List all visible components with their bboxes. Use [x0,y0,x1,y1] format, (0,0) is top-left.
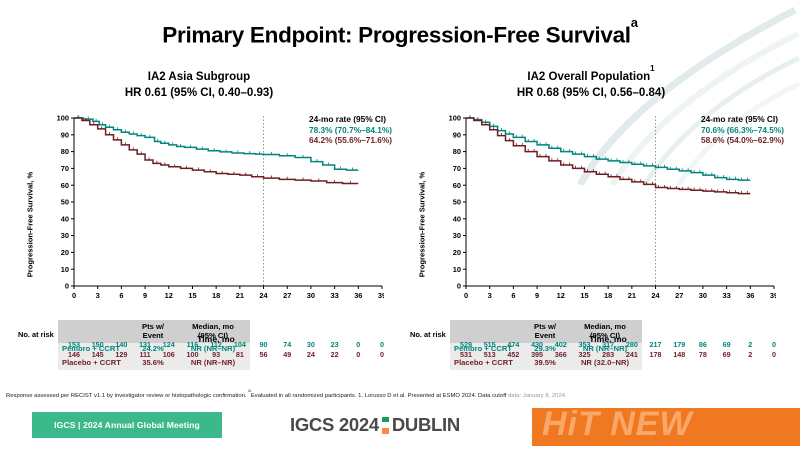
at-risk-row: 531513452395366325283241178148786920 [396,350,786,360]
at-risk-value: 0 [356,350,360,359]
panel-title-overall: IA2 Overall Population1 [396,68,786,83]
callout-pembro-overall: 70.6% (66.3%–74.5%) [701,125,784,136]
at-risk-value: 69 [723,350,731,359]
svg-text:20: 20 [453,248,461,257]
svg-text:15: 15 [580,291,588,300]
igcs-dublin-logo: IGCS 2024 DUBLIN [290,412,460,438]
at-risk-value: 112 [210,340,222,349]
ireland-flag-icon [382,417,389,434]
at-risk-value: 353 [578,340,590,349]
at-risk-value: 150 [92,340,104,349]
callout-header-overall: 24-mo rate (95% CI) [701,114,784,125]
svg-text:10: 10 [453,265,461,274]
svg-text:0: 0 [464,291,468,300]
callout-placebo-overall: 58.6% (54.0%–62.9%) [701,135,784,146]
at-risk-value: 90 [260,340,268,349]
at-risk-value: 93 [212,350,220,359]
svg-text:0: 0 [72,291,76,300]
svg-text:100: 100 [57,114,69,123]
at-risk-value: 531 [460,350,472,359]
svg-text:27: 27 [283,291,291,300]
at-risk-value: 153 [68,340,80,349]
svg-text:36: 36 [746,291,754,300]
svg-text:21: 21 [236,291,244,300]
svg-text:0: 0 [457,282,461,291]
at-risk-value: 430 [531,340,543,349]
at-risk-value: 515 [484,340,496,349]
at-risk-rows-overall: 5295154744304023533172802171798669205315… [396,340,786,360]
callout-header-asia: 24-mo rate (95% CI) [309,114,392,125]
at-risk-value: 241 [626,350,638,359]
svg-text:40: 40 [453,214,461,223]
at-risk-label: No. at risk [18,330,394,339]
at-risk-rows-asia: 1531501401311241161121049074302300146145… [4,340,394,360]
at-risk-table-overall: No. at risk 5295154744304023533172802171… [396,330,786,360]
at-risk-value: 178 [650,350,662,359]
svg-text:33: 33 [722,291,730,300]
at-risk-value: 0 [380,340,384,349]
at-risk-value: 111 [139,350,150,359]
page-title: Primary Endpoint: Progression-Free Survi… [0,22,800,49]
at-risk-value: 474 [507,340,519,349]
at-risk-value: 0 [380,350,384,359]
at-risk-value: 0 [772,350,776,359]
slide-root: Primary Endpoint: Progression-Free Survi… [0,0,800,450]
chart-panel-overall-population: IA2 Overall Population1 HR 0.68 (95% CI,… [396,68,786,378]
svg-text:6: 6 [511,291,515,300]
at-risk-value: 78 [699,350,707,359]
hazard-ratio-asia: HR 0.61 (95% CI, 0.40–0.93) [4,87,394,99]
panel-header-overall: IA2 Overall Population1 HR 0.68 (95% CI,… [396,68,786,99]
panel-title-overall-sup: 1 [650,64,654,73]
svg-text:60: 60 [61,181,69,190]
at-risk-value: 104 [234,340,246,349]
igcs-meeting-badge: IGCS | 2024 Annual Global Meeting [32,412,222,438]
at-risk-value: 100 [186,350,198,359]
svg-text:21: 21 [628,291,636,300]
at-risk-value: 106 [163,350,175,359]
svg-text:70: 70 [453,164,461,173]
panel-title-asia-text: IA2 Asia Subgroup [148,71,250,83]
y-axis-label-overall: Progression-Free Survival, % [418,135,427,315]
panel-title-overall-text: IA2 Overall Population [527,71,650,83]
at-risk-value: 116 [187,340,199,349]
footnote-main: Response assessed per RECIST v1.1 by inv… [6,393,248,399]
svg-text:10: 10 [61,265,69,274]
slide-footer: IGCS | 2024 Annual Global Meeting IGCS 2… [0,408,800,450]
at-risk-value: 148 [673,350,685,359]
at-risk-row: 529515474430402353317280217179866920 [396,340,786,350]
at-risk-value: 325 [578,350,590,359]
panel-header-asia: IA2 Asia Subgroup HR 0.61 (95% CI, 0.40–… [4,68,394,99]
at-risk-value: 49 [283,350,291,359]
svg-text:70: 70 [61,164,69,173]
at-risk-value: 0 [772,340,776,349]
svg-text:24: 24 [651,291,660,300]
svg-text:20: 20 [61,248,69,257]
svg-text:18: 18 [212,291,220,300]
svg-text:40: 40 [61,214,69,223]
at-risk-value: 280 [626,340,638,349]
watermark-banner: HiT NEW [532,408,800,446]
svg-text:12: 12 [557,291,565,300]
svg-text:39: 39 [378,291,384,300]
svg-text:39: 39 [770,291,776,300]
svg-text:30: 30 [61,231,69,240]
at-risk-value: 395 [531,350,543,359]
at-risk-value: 146 [68,350,80,359]
at-risk-value: 124 [163,340,175,349]
svg-text:90: 90 [61,130,69,139]
svg-text:15: 15 [188,291,196,300]
svg-text:27: 27 [675,291,683,300]
svg-text:0: 0 [65,282,69,291]
svg-text:30: 30 [453,231,461,240]
at-risk-value: 283 [602,350,614,359]
footnote: Response assessed per RECIST v1.1 by inv… [6,390,796,400]
svg-text:33: 33 [330,291,338,300]
at-risk-value: 81 [236,350,244,359]
chart-panel-asia-subgroup: IA2 Asia Subgroup HR 0.61 (95% CI, 0.40–… [4,68,394,378]
svg-text:90: 90 [453,130,461,139]
at-risk-value: 69 [723,340,731,349]
watermark-text: HiT NEW [542,408,693,444]
svg-text:80: 80 [453,147,461,156]
callout-asia: 24-mo rate (95% CI) 78.3% (70.7%–84.1%) … [309,114,392,146]
at-risk-value: 129 [115,350,127,359]
at-risk-value: 2 [748,340,752,349]
y-axis-label-asia: Progression-Free Survival, % [26,135,35,315]
at-risk-value: 22 [331,350,339,359]
at-risk-value: 74 [283,340,291,349]
at-risk-value: 145 [92,350,104,359]
at-risk-table-asia: No. at risk 1531501401311241161121049074… [4,330,394,360]
panel-title-asia: IA2 Asia Subgroup [4,68,394,83]
footnote-datacutoff: data: January 8, 2024. [508,393,567,399]
footnote-superscript: a [248,388,251,393]
at-risk-value: 402 [555,340,567,349]
callout-overall: 24-mo rate (95% CI) 70.6% (66.3%–74.5%) … [701,114,784,146]
svg-text:50: 50 [453,198,461,207]
svg-text:50: 50 [61,198,69,207]
svg-text:18: 18 [604,291,612,300]
svg-text:3: 3 [96,291,100,300]
hazard-ratio-overall: HR 0.68 (95% CI, 0.56–0.84) [396,87,786,99]
at-risk-value: 2 [748,350,752,359]
at-risk-value: 0 [356,340,360,349]
at-risk-row: 14614512911110610093815649242200 [4,350,394,360]
svg-text:12: 12 [165,291,173,300]
at-risk-value: 179 [673,340,685,349]
callout-placebo-asia: 64.2% (55.6%–71.6%) [309,135,392,146]
footnote-rest: Evaluated in all randomized participants… [251,393,508,399]
svg-text:36: 36 [354,291,362,300]
at-risk-value: 86 [699,340,707,349]
at-risk-value: 452 [507,350,519,359]
at-risk-value: 513 [484,350,496,359]
at-risk-value: 24 [307,350,315,359]
at-risk-row: 1531501401311241161121049074302300 [4,340,394,350]
svg-text:60: 60 [453,181,461,190]
svg-text:100: 100 [449,114,461,123]
logo-text-left: IGCS 2024 [290,414,379,436]
at-risk-value: 56 [260,350,268,359]
svg-text:6: 6 [119,291,123,300]
svg-text:3: 3 [488,291,492,300]
svg-text:30: 30 [307,291,315,300]
at-risk-value: 366 [555,350,567,359]
at-risk-value: 140 [115,340,127,349]
page-title-text: Primary Endpoint: Progression-Free Survi… [162,23,630,48]
callout-pembro-asia: 78.3% (70.7%–84.1%) [309,125,392,136]
at-risk-value: 23 [331,340,339,349]
at-risk-value: 317 [602,340,614,349]
svg-text:30: 30 [699,291,707,300]
svg-text:24: 24 [259,291,268,300]
at-risk-value: 131 [139,340,151,349]
at-risk-value: 217 [650,340,662,349]
svg-text:9: 9 [143,291,147,300]
logo-text-right: DUBLIN [392,414,460,436]
svg-text:9: 9 [535,291,539,300]
page-title-superscript: a [631,15,638,30]
at-risk-value: 529 [460,340,472,349]
svg-text:80: 80 [61,147,69,156]
at-risk-value: 30 [307,340,315,349]
at-risk-label: No. at risk [410,330,786,339]
